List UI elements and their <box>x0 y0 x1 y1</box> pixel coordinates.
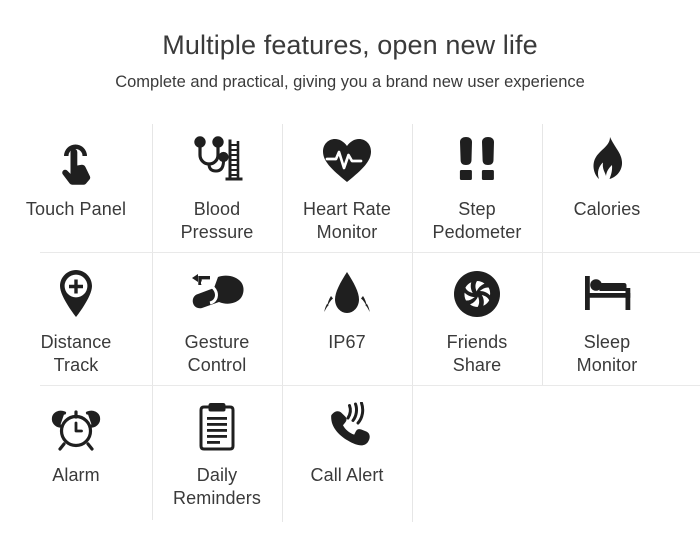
feature-cell-ip67[interactable]: IP67 <box>282 257 412 385</box>
feature-cell-step-pedometer[interactable]: Step Pedometer <box>412 124 542 252</box>
feature-cell-daily-reminders[interactable]: Daily Reminders <box>152 390 282 520</box>
feature-label: Sleep Monitor <box>577 325 638 377</box>
feature-cell-distance-track[interactable]: Distance Track <box>0 257 152 385</box>
feature-label: Distance Track <box>41 325 112 377</box>
bed-icon <box>579 257 635 325</box>
feature-label: Step Pedometer <box>433 192 522 244</box>
feature-cell-gesture-control[interactable]: Gesture Control <box>152 257 282 385</box>
heart-rate-icon <box>321 124 373 192</box>
feature-cell-sleep-monitor[interactable]: Sleep Monitor <box>542 257 672 385</box>
feature-cell-alarm[interactable]: Alarm <box>0 390 152 520</box>
features-row-2: Distance Track Gesture Control <box>0 257 700 385</box>
grid-divider-horizontal-2 <box>40 385 700 386</box>
footprints-icon <box>455 124 499 192</box>
feature-cell-empty-2 <box>542 390 672 520</box>
feature-cell-call-alert[interactable]: Call Alert <box>282 390 412 520</box>
feature-cell-empty-1 <box>412 390 542 520</box>
feature-label: Friends Share <box>447 325 508 377</box>
touch-panel-icon <box>53 124 99 192</box>
feature-cell-calories[interactable]: Calories <box>542 124 672 252</box>
page-subtitle: Complete and practical, giving you a bra… <box>0 61 700 93</box>
flame-icon <box>587 124 627 192</box>
feature-cell-touch-panel[interactable]: Touch Panel <box>0 124 152 252</box>
map-pin-plus-icon <box>57 257 95 325</box>
alarm-clock-icon <box>51 390 101 458</box>
aperture-icon <box>453 257 501 325</box>
feature-label: Blood Pressure <box>181 192 254 244</box>
phone-ringing-icon <box>324 390 370 458</box>
feature-label: Touch Panel <box>26 192 126 221</box>
features-row-3: Alarm Dail <box>0 390 700 520</box>
page-header: Multiple features, open new life Complet… <box>0 0 700 93</box>
water-drop-icon <box>322 257 372 325</box>
feature-label: Daily Reminders <box>173 458 261 510</box>
feature-label: Call Alert <box>310 458 383 487</box>
hand-gesture-icon <box>188 257 246 325</box>
feature-label: IP67 <box>328 325 365 354</box>
blood-pressure-icon <box>189 124 245 192</box>
feature-label: Heart Rate Monitor <box>303 192 391 244</box>
feature-label: Calories <box>574 192 641 221</box>
features-row-1: Touch Panel Blood Pr <box>0 124 700 252</box>
feature-cell-friends-share[interactable]: Friends Share <box>412 257 542 385</box>
feature-label: Gesture Control <box>185 325 250 377</box>
feature-cell-blood-pressure[interactable]: Blood Pressure <box>152 124 282 252</box>
grid-divider-horizontal-1 <box>40 252 700 253</box>
feature-label: Alarm <box>52 458 100 487</box>
feature-grid-page: Multiple features, open new life Complet… <box>0 0 700 538</box>
features-grid: Touch Panel Blood Pr <box>0 124 700 538</box>
clipboard-icon <box>197 390 237 458</box>
feature-cell-heart-rate[interactable]: Heart Rate Monitor <box>282 124 412 252</box>
page-title: Multiple features, open new life <box>0 0 700 61</box>
